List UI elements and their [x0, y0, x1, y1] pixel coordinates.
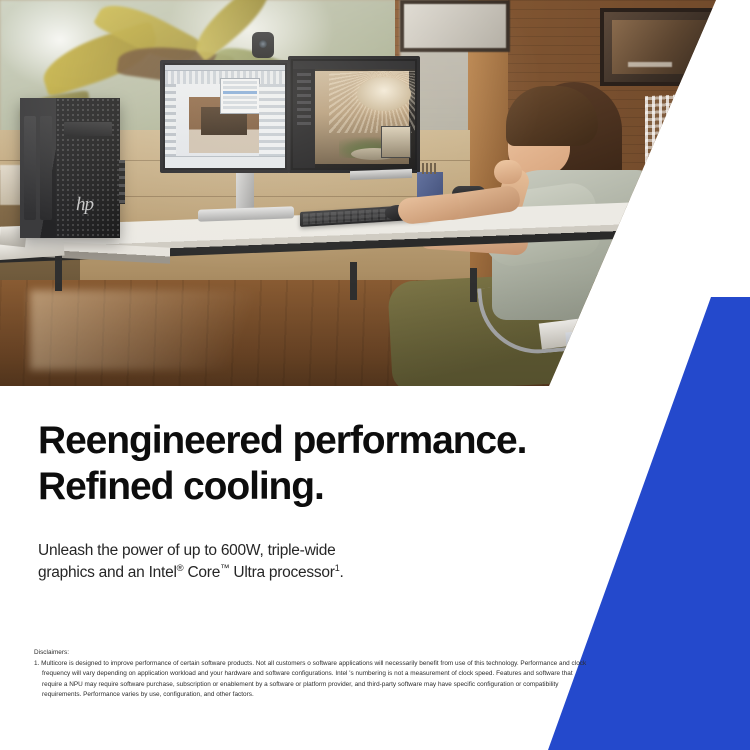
- hp-logo-icon: hp: [76, 194, 104, 216]
- architectural-model: [630, 190, 664, 250]
- hero-photo: hp: [0, 0, 750, 386]
- monitor-stand-neck: [236, 173, 254, 211]
- cad-dialog: [220, 78, 260, 114]
- subhead-line-2a: graphics and an Intel: [38, 564, 177, 581]
- right-monitor: [288, 56, 420, 173]
- cad-tool-palette: [165, 84, 176, 156]
- subhead-line-1: Unleash the power of up to 600W, triple-…: [38, 542, 335, 559]
- left-monitor: [160, 60, 290, 173]
- subhead-line-2b: Core: [183, 564, 220, 581]
- cad-status-bar: [165, 156, 285, 168]
- page-subhead: Unleash the power of up to 600W, triple-…: [38, 540, 478, 584]
- cad-properties-panel: [259, 84, 285, 156]
- webcam-icon: [252, 32, 274, 58]
- disclaimers-block: Disclaimers: 1. Multicore is designed to…: [34, 648, 594, 700]
- ceiling-oculus: [357, 77, 411, 111]
- marketing-page: hp: [0, 0, 750, 750]
- tower-ports: [119, 160, 125, 204]
- desk-leg: [350, 262, 357, 300]
- render-app-toolbar: [293, 61, 415, 69]
- page-headline: Reengineered performance.Refined cooling…: [38, 418, 638, 510]
- subhead-period: .: [339, 564, 343, 581]
- hand: [494, 160, 522, 184]
- framed-artwork: [400, 0, 510, 52]
- tower-vent: [40, 116, 52, 220]
- trademark-mark-icon: ™: [220, 563, 229, 574]
- papers: [565, 328, 636, 353]
- hair-top: [506, 86, 598, 146]
- right-monitor-screen: [293, 61, 415, 168]
- hero-image: hp: [0, 0, 750, 386]
- floor-light-pool: [30, 290, 330, 370]
- office-scene: hp: [0, 0, 750, 386]
- tower-mesh-panel: [56, 98, 120, 238]
- left-monitor-screen: [165, 65, 285, 168]
- tower-vent: [24, 116, 36, 220]
- headline-line-1: Reengineered performance.: [38, 419, 526, 462]
- render-app-sidebar: [293, 69, 315, 168]
- headline-line-2: Refined cooling.: [38, 465, 324, 508]
- subhead-line-2c: Ultra processor: [229, 564, 334, 581]
- hp-workstation-tower: hp: [20, 98, 120, 238]
- tower-drive-bay: [64, 122, 112, 136]
- chair-backrest: [612, 230, 674, 348]
- disclaimer-item: 1. Multicore is designed to improve perf…: [34, 659, 594, 701]
- desk-leg: [470, 268, 477, 302]
- render-thumbnail: [381, 126, 411, 158]
- disclaimers-title: Disclaimers:: [34, 648, 594, 658]
